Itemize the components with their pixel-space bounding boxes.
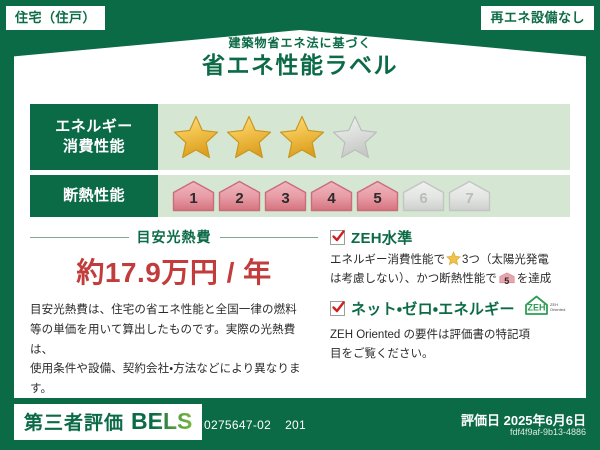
- label-body-card: エネルギー 消費性能 断熱性能 1234567 目安光熱費: [14, 92, 586, 398]
- row-insulation-performance: 断熱性能 1234567: [30, 175, 570, 217]
- insulation-chip-number: 5: [356, 190, 399, 207]
- star-icon-filled: [172, 114, 220, 160]
- page-title: 省エネ性能ラベル: [0, 51, 600, 80]
- energy-performance-value: [158, 104, 570, 170]
- certificate-number: 0275647-02201: [204, 418, 306, 432]
- zeh-standard-heading: ZEH水準: [330, 227, 573, 248]
- inline-chip-number: 5: [499, 274, 515, 289]
- checkbox-zeh-standard[interactable]: [330, 230, 345, 245]
- checkbox-zeh-netzero[interactable]: [330, 301, 345, 316]
- lower-section: 目安光熱費 約17.9万円 / 年 目安光熱費は、住宅の省エネ性能と全国一律の燃…: [30, 227, 570, 400]
- insulation-chip-on: 3: [264, 180, 307, 212]
- cost-note: 目安光熱費は、住宅の省エネ性能と全国一律の燃料 等の単価を用いて算出したものです…: [30, 301, 318, 400]
- zeh-standard-title: ZEH水準: [351, 227, 413, 248]
- bels-logo-box: 第三者評価 BELS: [14, 404, 202, 440]
- rule-right: [220, 237, 319, 238]
- badge-renewable-energy: 再エネ設備なし: [481, 6, 594, 30]
- insulation-chip-on: 4: [310, 180, 353, 212]
- badge-building-type: 住宅（住戸）: [6, 6, 105, 30]
- cost-heading: 目安光熱費: [137, 227, 212, 247]
- insulation-chip-off: 7: [448, 180, 491, 212]
- energy-label-line2: 消費性能: [63, 137, 125, 157]
- zeh-standard-text-b: 3つ（太陽光発電: [462, 254, 549, 266]
- star-icon-empty: [331, 114, 379, 160]
- insulation-chip-number: 2: [218, 190, 261, 207]
- row-energy-performance: エネルギー 消費性能: [30, 104, 570, 170]
- zeh-standard-text-d: を達成: [517, 273, 552, 285]
- zeh-netzero-block: ネット・ゼロ・エネルギー ZEH ZEH Oriented ZEH Orient…: [330, 294, 573, 363]
- cost-note-line2: 等の単価を用いて算出したものです。実際の光熱費は、: [30, 324, 295, 356]
- title-subtitle: 建築物省エネ法に基づく: [0, 36, 600, 50]
- check-icon: [331, 229, 346, 244]
- footer: 第三者評価 BELS 0275647-02201 評価日 2025年6月6日 f…: [0, 398, 600, 450]
- zeh-netzero-heading: ネット・ゼロ・エネルギー ZEH ZEH Oriented: [330, 294, 573, 323]
- rule-left: [30, 237, 129, 238]
- zeh-standard-text-a: エネルギー消費性能で: [330, 254, 445, 266]
- cost-note-line3: 使用条件や設備、契約会社・方法などにより異なります。: [30, 363, 301, 395]
- bels-en-label: BELS: [131, 408, 192, 435]
- insulation-chip-on: 1: [172, 180, 215, 212]
- zeh-column: ZEH水準 エネルギー消費性能で3つ（太陽光発電は考慮しない）、かつ断熱性能で5…: [318, 227, 573, 400]
- cost-column: 目安光熱費 約17.9万円 / 年 目安光熱費は、住宅の省エネ性能と全国一律の燃…: [30, 227, 318, 400]
- zeh-netzero-title: ネット・ゼロ・エネルギー: [351, 298, 515, 319]
- cost-heading-row: 目安光熱費: [30, 227, 318, 247]
- zeh-standard-text-c: は考慮しない）、かつ断熱性能で: [330, 273, 497, 285]
- evaluation-date-value: 2025年6月6日: [504, 413, 586, 428]
- insulation-level-chips: 1234567: [172, 180, 491, 212]
- zeh-house-logo-icon: ZEH ZEH Oriented: [523, 294, 573, 318]
- star-icon-inline: [446, 251, 461, 266]
- star-rating: [172, 114, 379, 160]
- zeh-netzero-text-line2: 目をご覧ください。: [330, 348, 434, 360]
- star-icon-filled: [278, 114, 326, 160]
- zeh-oriented-logo: ZEH ZEH Oriented: [523, 294, 573, 323]
- zeh-standard-block: ZEH水準 エネルギー消費性能で3つ（太陽光発電は考慮しない）、かつ断熱性能で5…: [330, 227, 573, 288]
- insulation-chip-number: 6: [402, 190, 445, 207]
- insulation-chip-number: 1: [172, 190, 215, 207]
- zeh-netzero-text-line1: ZEH Oriented の要件は評価書の特記項: [330, 329, 530, 341]
- check-icon: [331, 300, 346, 315]
- insulation-chip-inline: 5: [499, 271, 515, 285]
- zeh-netzero-text: ZEH Oriented の要件は評価書の特記項 目をご覧ください。: [330, 326, 573, 363]
- insulation-chip-off: 6: [402, 180, 445, 212]
- insulation-chip-number: 7: [448, 190, 491, 207]
- insulation-chip-number: 4: [310, 190, 353, 207]
- cert-number-value: 0275647-02: [204, 418, 271, 432]
- evaluation-hash: fdf4f9af-9b13-4886: [510, 427, 586, 437]
- energy-performance-label: 住宅（住戸） 再エネ設備なし 建築物省エネ法に基づく 省エネ性能ラベル エネルギ…: [0, 0, 600, 450]
- insulation-chip-number: 3: [264, 190, 307, 207]
- star-icon-filled: [225, 114, 273, 160]
- insulation-performance-value: 1234567: [158, 175, 570, 217]
- energy-performance-key: エネルギー 消費性能: [30, 104, 158, 170]
- insulation-label: 断熱性能: [63, 186, 125, 206]
- cost-value: 約17.9万円 / 年: [30, 251, 318, 291]
- energy-label-line1: エネルギー: [55, 117, 133, 137]
- insulation-chip-on: 5: [356, 180, 399, 212]
- svg-text:Oriented: Oriented: [550, 307, 565, 312]
- svg-text:ZEH: ZEH: [527, 303, 545, 313]
- title-block: 建築物省エネ法に基づく 省エネ性能ラベル: [0, 36, 600, 80]
- cost-note-line1: 目安光熱費は、住宅の省エネ性能と全国一律の燃料: [30, 304, 297, 316]
- evaluation-date-label: 評価日: [461, 413, 500, 428]
- zeh-standard-text: エネルギー消費性能で3つ（太陽光発電は考慮しない）、かつ断熱性能で5を達成: [330, 251, 573, 288]
- insulation-performance-key: 断熱性能: [30, 175, 158, 217]
- bels-jp-label: 第三者評価: [24, 408, 124, 435]
- unit-number-value: 201: [285, 418, 306, 432]
- insulation-chip-on: 2: [218, 180, 261, 212]
